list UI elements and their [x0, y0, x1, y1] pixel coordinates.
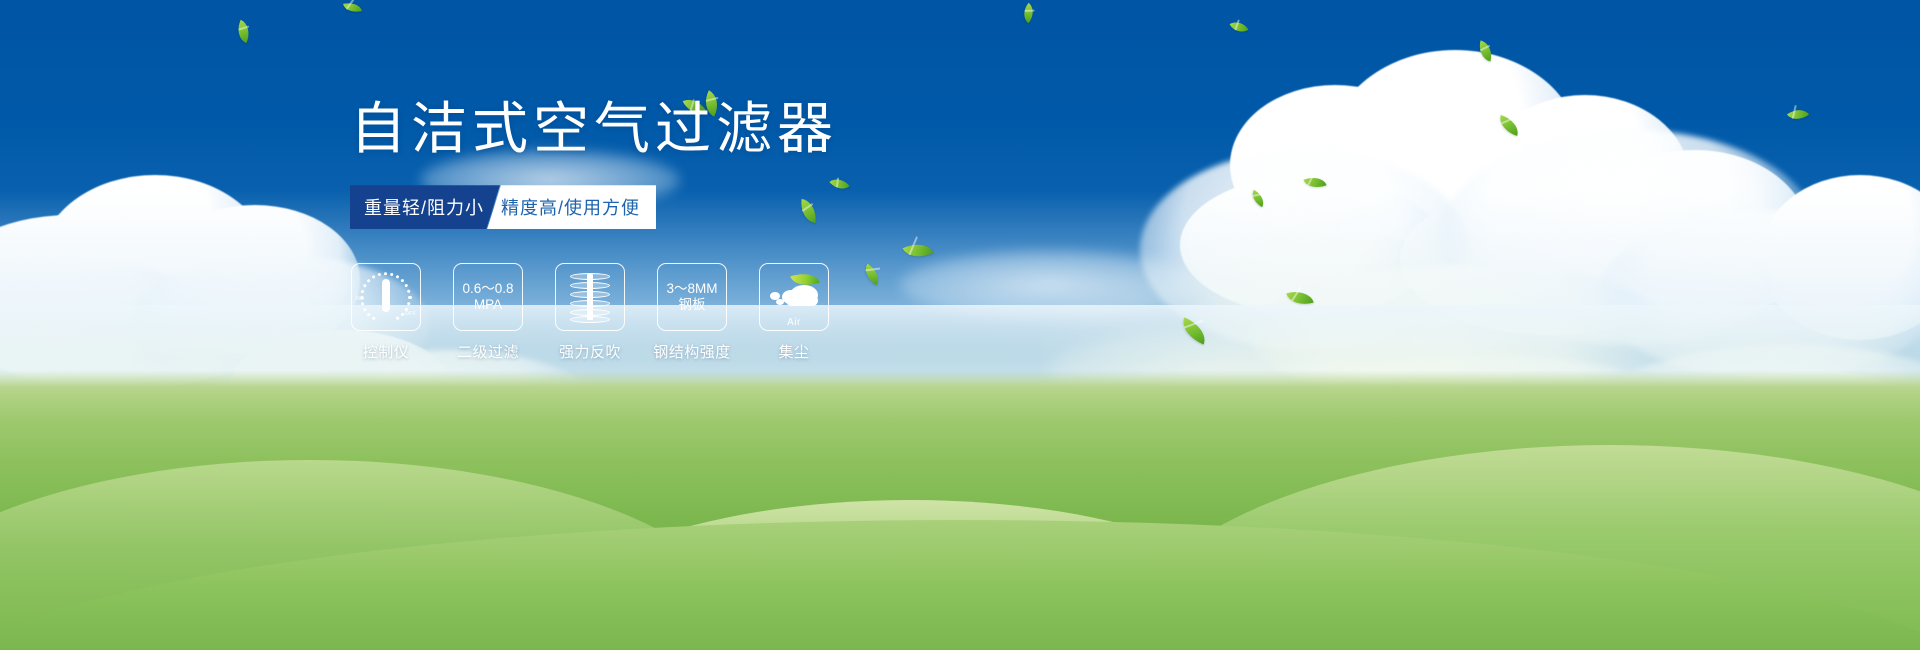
- feature-icon-group: NO OFF 控制仪 0.6～0.8 MPA 二级过滤: [350, 263, 1110, 362]
- steel-thickness-line1: 3～8MM: [666, 281, 717, 297]
- badge-weight-resistance: 重量轻/阻力小: [350, 185, 500, 229]
- pressure-value-line2: MPA: [474, 297, 502, 313]
- leaf-icon: [1476, 40, 1495, 61]
- feature-caption: 强力反吹: [559, 341, 621, 362]
- feature-caption: 二级过滤: [457, 341, 519, 362]
- coil-filter-icon: [568, 272, 612, 322]
- air-cloud-leaf-icon: Air: [768, 277, 820, 317]
- feature-icon-box: 3～8MM 钢板: [657, 263, 727, 331]
- control-dial-icon: NO OFF: [357, 270, 415, 324]
- grass-field: [0, 370, 1920, 650]
- pressure-value-line1: 0.6～0.8: [462, 281, 513, 297]
- feature-caption: 钢结构强度: [653, 341, 731, 362]
- feature-secondary-filter: 0.6～0.8 MPA 二级过滤: [452, 263, 524, 362]
- leaf-icon: [1018, 3, 1038, 24]
- leaf-icon: [1286, 287, 1313, 309]
- badge-group: 重量轻/阻力小 精度高/使用方便: [350, 185, 672, 229]
- leaf-icon: [1303, 173, 1326, 192]
- leaf-icon: [1496, 115, 1522, 136]
- feature-steel-strength: 3～8MM 钢板 钢结构强度: [656, 263, 728, 362]
- feature-icon-box: NO OFF: [351, 263, 421, 331]
- feature-dust-collection: Air 集尘: [758, 263, 830, 362]
- feature-icon-box: [555, 263, 625, 331]
- leaf-icon: [1787, 104, 1809, 125]
- dial-pointer: [382, 279, 390, 312]
- leaf-icon: [233, 20, 255, 44]
- air-label: Air: [768, 317, 820, 328]
- feature-controller: NO OFF 控制仪: [350, 263, 422, 362]
- badge-precision-convenience: 精度高/使用方便: [487, 185, 656, 229]
- feature-strong-blowback: 强力反吹: [554, 263, 626, 362]
- banner-content: 自洁式空气过滤器 重量轻/阻力小 精度高/使用方便: [350, 100, 1110, 362]
- leaf-icon: [343, 0, 362, 14]
- feature-caption: 集尘: [778, 341, 809, 362]
- leaf-icon: [1230, 18, 1249, 37]
- steel-thickness-line2: 钢板: [679, 297, 706, 313]
- feature-icon-box: Air: [759, 263, 829, 331]
- leaf-icon: [1248, 190, 1267, 208]
- leaf-icon: [1178, 317, 1211, 344]
- product-banner: 自洁式空气过滤器 重量轻/阻力小 精度高/使用方便: [0, 0, 1920, 650]
- dial-label-off: OFF: [405, 311, 416, 317]
- page-title: 自洁式空气过滤器: [350, 100, 1110, 158]
- dial-label-no: NO: [356, 296, 364, 302]
- feature-caption: 控制仪: [363, 341, 410, 362]
- feature-icon-box: 0.6～0.8 MPA: [453, 263, 523, 331]
